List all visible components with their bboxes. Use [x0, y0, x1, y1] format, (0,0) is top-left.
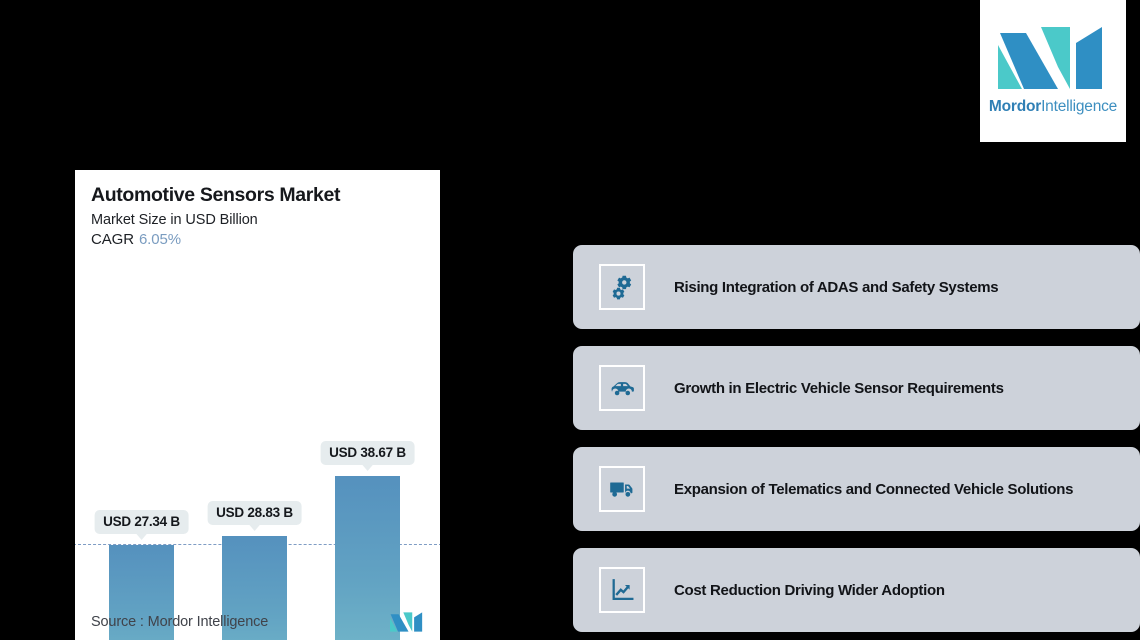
driver-label: Rising Integration of ADAS and Safety Sy… — [674, 279, 998, 296]
driver-label: Expansion of Telematics and Connected Ve… — [674, 481, 1073, 498]
cagr-value: 6.05% — [139, 231, 181, 248]
chart-title: Automotive Sensors Market — [91, 184, 424, 206]
driver-label: Growth in Electric Vehicle Sensor Requir… — [674, 380, 1004, 397]
chart-cagr-row: CAGR6.05% — [91, 231, 424, 248]
source-label: Source : Mordor Intelligence — [91, 614, 268, 630]
market-chart-card: Automotive Sensors Market Market Size in… — [75, 170, 440, 640]
gears-icon-glyph — [608, 273, 636, 301]
infographic-canvas: MordorIntelligence Automotive Sensors Ma… — [0, 0, 1140, 640]
car-icon-glyph — [608, 374, 636, 402]
driver-card-3[interactable]: Expansion of Telematics and Connected Ve… — [573, 447, 1140, 531]
driver-card-4[interactable]: Cost Reduction Driving Wider Adoption — [573, 548, 1140, 632]
brand-name-bold: Mordor — [989, 98, 1041, 115]
growth-chart-icon — [599, 567, 645, 613]
bar-value-callout: USD 27.34 B — [94, 510, 189, 534]
gears-icon — [599, 264, 645, 310]
truck-icon — [599, 466, 645, 512]
growth-chart-icon-glyph — [608, 576, 636, 604]
car-icon — [599, 365, 645, 411]
chart-footer: Source : Mordor Intelligence — [91, 612, 424, 632]
mordor-m-mark-icon — [390, 612, 424, 632]
driver-card-2[interactable]: Growth in Electric Vehicle Sensor Requir… — [573, 346, 1140, 430]
mordor-m-mark-icon — [998, 27, 1108, 89]
chart-subtitle: Market Size in USD Billion — [91, 212, 424, 228]
brand-wordmark: MordorIntelligence — [989, 98, 1117, 116]
driver-label: Cost Reduction Driving Wider Adoption — [674, 582, 945, 599]
truck-icon-glyph — [608, 475, 636, 503]
brand-logo: MordorIntelligence — [980, 0, 1126, 142]
cagr-label: CAGR — [91, 231, 134, 248]
bar-chart-plot: USD 27.34 B 2025 USD 28.83 B 2026 USD 38… — [91, 428, 424, 640]
driver-card-1[interactable]: Rising Integration of ADAS and Safety Sy… — [573, 245, 1140, 329]
bar-value-callout: USD 38.67 B — [320, 441, 415, 465]
bar-value-callout: USD 28.83 B — [207, 501, 302, 525]
brand-name-light: Intelligence — [1041, 98, 1117, 115]
